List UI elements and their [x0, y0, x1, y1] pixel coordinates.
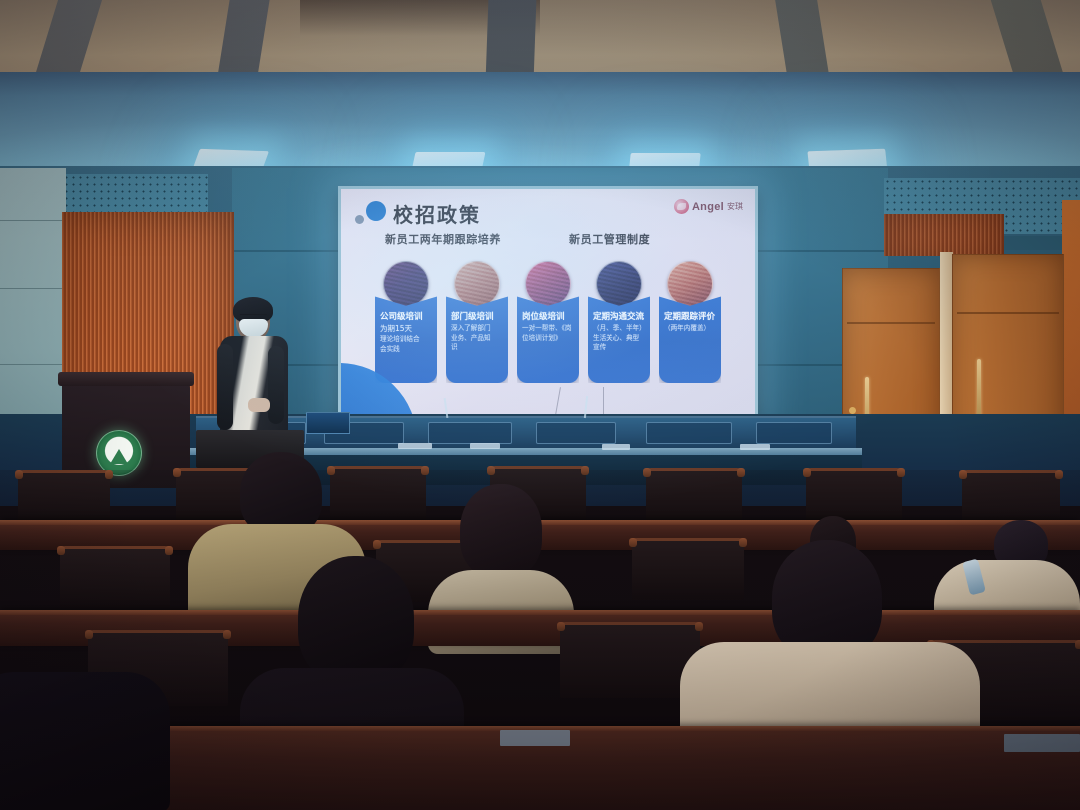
attendee-corner-left	[0, 672, 170, 810]
chair[interactable]	[962, 470, 1060, 526]
classroom-photo-icon	[596, 261, 642, 307]
paper-icon[interactable]	[500, 730, 570, 746]
brand-logo: Angel 安琪	[674, 199, 743, 214]
name-plate	[740, 444, 770, 450]
laptop-icon	[306, 412, 350, 434]
paper-icon[interactable]	[1004, 734, 1080, 752]
podium-top	[58, 372, 194, 386]
table-panel	[756, 422, 832, 444]
name-plate	[602, 444, 630, 450]
slide-card: 定期沟通交流 （月、季、半年） 生活关心、典型 宣传	[588, 261, 650, 385]
card-line: （两年内覆盖）	[664, 324, 716, 334]
projection-screen: 校招政策 Angel 安琪 新员工两年期跟踪培养 新员工管理制度 公司级培训 为…	[338, 186, 758, 420]
slide-decor-dot-small-icon	[355, 215, 364, 224]
lecture-hall-scene: 校招政策 Angel 安琪 新员工两年期跟踪培养 新员工管理制度 公司级培训 为…	[0, 0, 1080, 810]
door-lock-icon[interactable]	[849, 407, 856, 414]
slide-card: 定期跟踪评价 （两年内覆盖）	[659, 261, 721, 385]
name-plate	[470, 443, 500, 449]
card-line: 会实践	[380, 345, 432, 355]
table-panel	[646, 422, 732, 444]
chair[interactable]	[60, 546, 170, 608]
card-line: 业务、产品知	[451, 334, 503, 344]
slide-title: 校招政策	[393, 199, 481, 228]
card-line: 生活关心、典型	[593, 334, 645, 344]
card-line: 识	[451, 343, 503, 353]
wood-slat-panel-right	[884, 214, 1004, 256]
slide-divider-line	[603, 387, 604, 417]
card-heading: 定期跟踪评价	[664, 311, 716, 323]
table-panel	[428, 422, 512, 444]
slide-heading-left: 新员工两年期跟踪培养	[385, 231, 501, 247]
presenter-hands-clicker-icon	[248, 398, 270, 412]
brand-name-cn: 安琪	[727, 201, 743, 212]
card-line: 深入了解部门	[451, 324, 503, 334]
brand-name: Angel	[692, 201, 724, 213]
door-transom	[957, 269, 1058, 315]
interview-photo-icon	[667, 261, 713, 307]
table-panel	[536, 422, 616, 444]
card-line: 为期15天	[380, 324, 432, 335]
angel-yeast-logo-icon	[674, 199, 689, 214]
card-line: 一对一帮带、《岗	[522, 324, 574, 334]
presenter-arm-left	[217, 344, 233, 430]
meeting-photo-icon	[454, 261, 500, 307]
card-heading: 公司级培训	[380, 311, 432, 323]
chair[interactable]	[646, 468, 742, 524]
slide-divider-line	[554, 387, 561, 417]
slide-card: 岗位级培训 一对一帮带、《岗 位培训计划》	[517, 261, 579, 385]
chair[interactable]	[560, 622, 700, 698]
slide-card: 公司级培训 为期15天 理论培训结合 会实践	[375, 261, 437, 385]
slide-heading-right: 新员工管理制度	[569, 231, 650, 247]
card-heading: 定期沟通交流	[593, 311, 645, 323]
chair[interactable]	[18, 470, 110, 524]
slide-decor-dot-large-icon	[366, 201, 386, 221]
card-line: （月、季、半年）	[593, 324, 645, 334]
name-plate	[398, 443, 432, 449]
group-photo-icon	[383, 261, 429, 307]
presentation-slide: 校招政策 Angel 安琪 新员工两年期跟踪培养 新员工管理制度 公司级培训 为…	[341, 189, 755, 417]
card-heading: 部门级培训	[451, 311, 503, 323]
card-line: 宣传	[593, 343, 645, 353]
card-line: 位培训计划》	[522, 334, 574, 344]
ceiling-beam	[486, 0, 537, 80]
door-transom	[847, 282, 935, 324]
slide-card: 部门级培训 深入了解部门 业务、产品知 识	[446, 261, 508, 385]
card-line: 理论培训结合	[380, 335, 432, 345]
training-photo-icon	[525, 261, 571, 307]
slide-card-group: 公司级培训 为期15天 理论培训结合 会实践 部门级培训 深入了解部门 业务、产…	[375, 261, 731, 385]
card-heading: 岗位级培训	[522, 311, 574, 323]
presenter-arm-right	[268, 346, 284, 424]
